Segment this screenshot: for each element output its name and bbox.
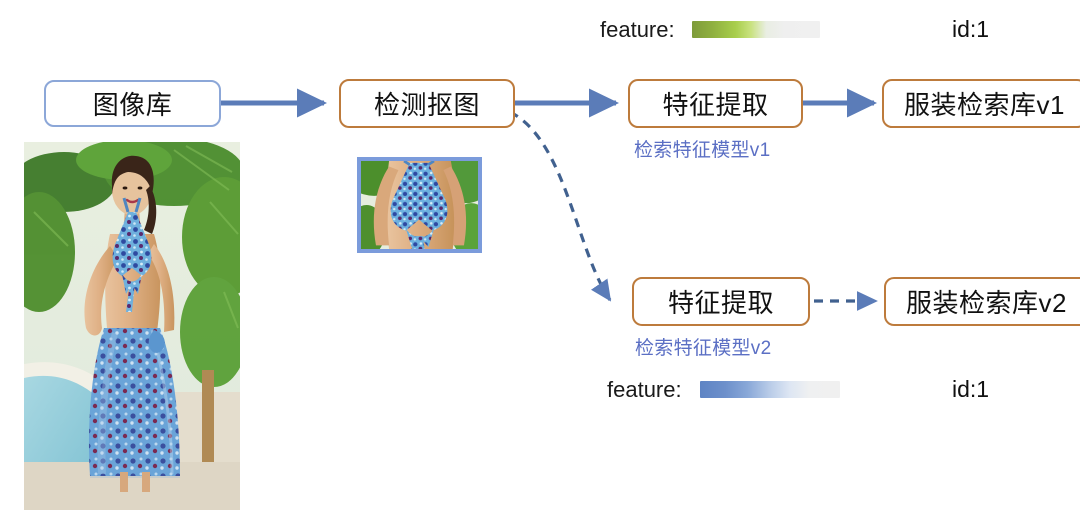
crop-thumbnail-art bbox=[361, 161, 478, 249]
feature-gradient-bar-v1 bbox=[692, 21, 820, 38]
feature-label-v2: feature: bbox=[607, 377, 682, 403]
caption-model-v2: 检索特征模型v2 bbox=[635, 333, 771, 360]
feature-label-v1: feature: bbox=[600, 17, 675, 43]
crop-thumbnail bbox=[357, 157, 482, 253]
source-photo-art bbox=[24, 142, 240, 510]
node-retrieval-db-v1[interactable]: 服装检索库v1 bbox=[882, 79, 1080, 128]
source-photo bbox=[24, 142, 240, 510]
node-image-library[interactable]: 图像库 bbox=[44, 80, 221, 127]
id-label-v1: id:1 bbox=[952, 16, 989, 43]
feature-gradient-bar-v2 bbox=[700, 381, 840, 398]
edge-detect-to-feature-v2 bbox=[510, 112, 610, 300]
node-feature-extract-v2[interactable]: 特征提取 bbox=[632, 277, 810, 326]
caption-model-v1: 检索特征模型v1 bbox=[634, 135, 770, 162]
node-feature-extract-v1[interactable]: 特征提取 bbox=[628, 79, 803, 128]
node-retrieval-db-v2[interactable]: 服装检索库v2 bbox=[884, 277, 1080, 326]
diagram-canvas: feature: id:1 图像库 检测抠图 特征提取 服装检索库v1 特征提取… bbox=[0, 0, 1080, 526]
node-detect-crop[interactable]: 检测抠图 bbox=[339, 79, 515, 128]
id-label-v2: id:1 bbox=[952, 376, 989, 403]
